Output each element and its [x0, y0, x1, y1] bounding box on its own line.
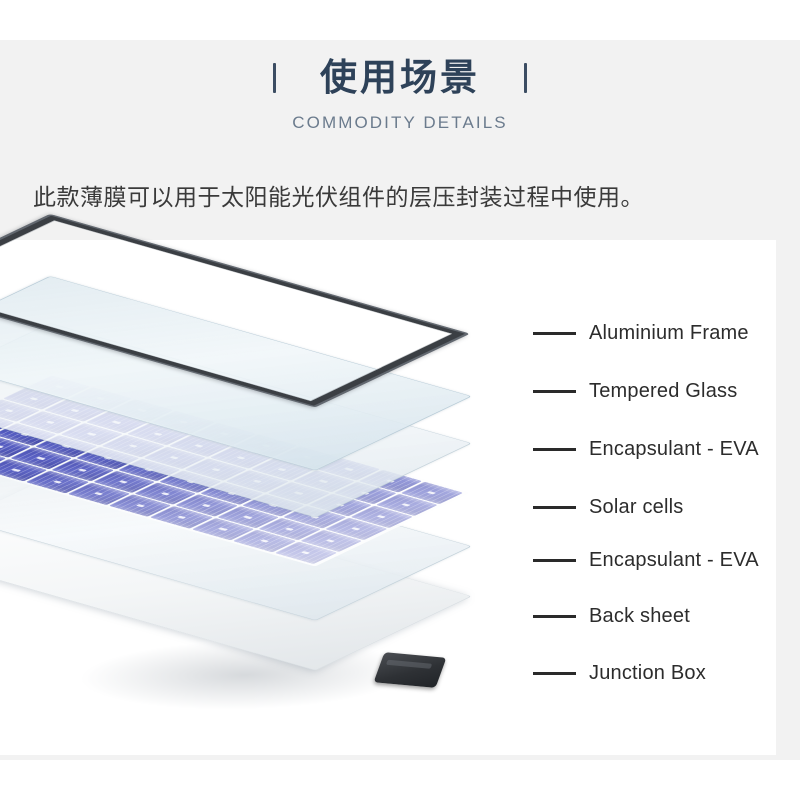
- leader-line-icon: [533, 332, 576, 335]
- callout-label: Encapsulant - EVA: [589, 438, 759, 461]
- section-header: 使用场景 COMMODITY DETAILS: [0, 52, 800, 133]
- callout-label: Junction Box: [589, 662, 706, 685]
- callout-junction-box[interactable]: Junction Box: [533, 661, 706, 685]
- callout-label: Encapsulant - EVA: [589, 549, 759, 572]
- callout-encapsulant-eva-bottom[interactable]: Encapsulant - EVA: [533, 548, 759, 572]
- layer-aluminium-frame: [50, 214, 470, 474]
- leader-line-icon: [533, 506, 576, 509]
- callout-solar-cells[interactable]: Solar cells: [533, 495, 683, 519]
- callout-label: Tempered Glass: [589, 380, 737, 403]
- callout-aluminium-frame[interactable]: Aluminium Frame: [533, 321, 749, 345]
- junction-box-body: [374, 652, 447, 688]
- decorative-bar-left-icon: [273, 63, 276, 93]
- callout-back-sheet[interactable]: Back sheet: [533, 604, 690, 628]
- callout-label: Solar cells: [589, 496, 683, 519]
- aluminium-frame-highlight: [0, 214, 470, 407]
- title-row: 使用场景: [0, 52, 800, 104]
- callout-label: Aluminium Frame: [589, 322, 749, 345]
- callout-tempered-glass[interactable]: Tempered Glass: [533, 379, 737, 403]
- description-text: 此款薄膜可以用于太阳能光伏组件的层压封装过程中使用。: [33, 178, 753, 212]
- page-title: 使用场景: [320, 56, 480, 100]
- leader-line-icon: [533, 672, 576, 675]
- leader-line-icon: [533, 615, 576, 618]
- callout-encapsulant-eva-top[interactable]: Encapsulant - EVA: [533, 437, 759, 461]
- leader-line-icon: [533, 390, 576, 393]
- callout-label: Back sheet: [589, 605, 690, 628]
- page-subtitle: COMMODITY DETAILS: [0, 113, 800, 133]
- product-detail-page: 使用场景 COMMODITY DETAILS 此款薄膜可以用于太阳能光伏组件的层…: [0, 0, 800, 800]
- leader-line-icon: [533, 448, 576, 451]
- decorative-bar-right-icon: [524, 63, 527, 93]
- leader-line-icon: [533, 559, 576, 562]
